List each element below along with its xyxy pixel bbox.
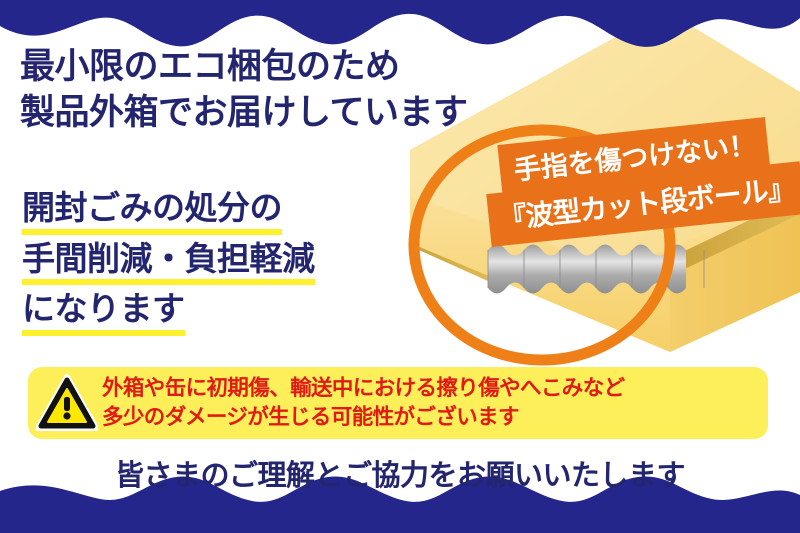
closing-message: 皆さまのご理解とご協力をお願いいたします [0, 452, 800, 494]
subheadline-line-2-text: 手間削減・負担軽減 [22, 235, 315, 286]
warning-line-1: 外箱や缶に初期傷、輸送中における擦り傷やへこみなど [102, 374, 625, 403]
subheadline: 開封ごみの処分の 手間削減・負担軽減 になります [22, 184, 315, 336]
promo-poster: 最小限のエコ梱包のため 製品外箱でお届けしています 開封ごみの処分の 手間削減・… [0, 0, 800, 533]
headline-line-2: 製品外箱でお届けしています [20, 90, 467, 136]
warning-line-2: 多少のダメージが生じる可能性がございます [102, 403, 625, 432]
subheadline-line-2: 手間削減・負担軽減 [22, 235, 315, 286]
subheadline-line-1-text: 開封ごみの処分の [22, 184, 282, 235]
headline: 最小限のエコ梱包のため 製品外箱でお届けしています [20, 44, 467, 135]
warning-triangle-icon [36, 374, 98, 432]
warning-text: 外箱や缶に初期傷、輸送中における擦り傷やへこみなど 多少のダメージが生じる可能性… [102, 374, 625, 432]
subheadline-line-3: になります [22, 285, 185, 336]
subheadline-line-3-text: になります [22, 285, 185, 336]
headline-line-1: 最小限のエコ梱包のため [20, 44, 467, 90]
subheadline-line-1: 開封ごみの処分の [22, 184, 282, 235]
warning-panel: 外箱や缶に初期傷、輸送中における擦り傷やへこみなど 多少のダメージが生じる可能性… [28, 367, 768, 439]
